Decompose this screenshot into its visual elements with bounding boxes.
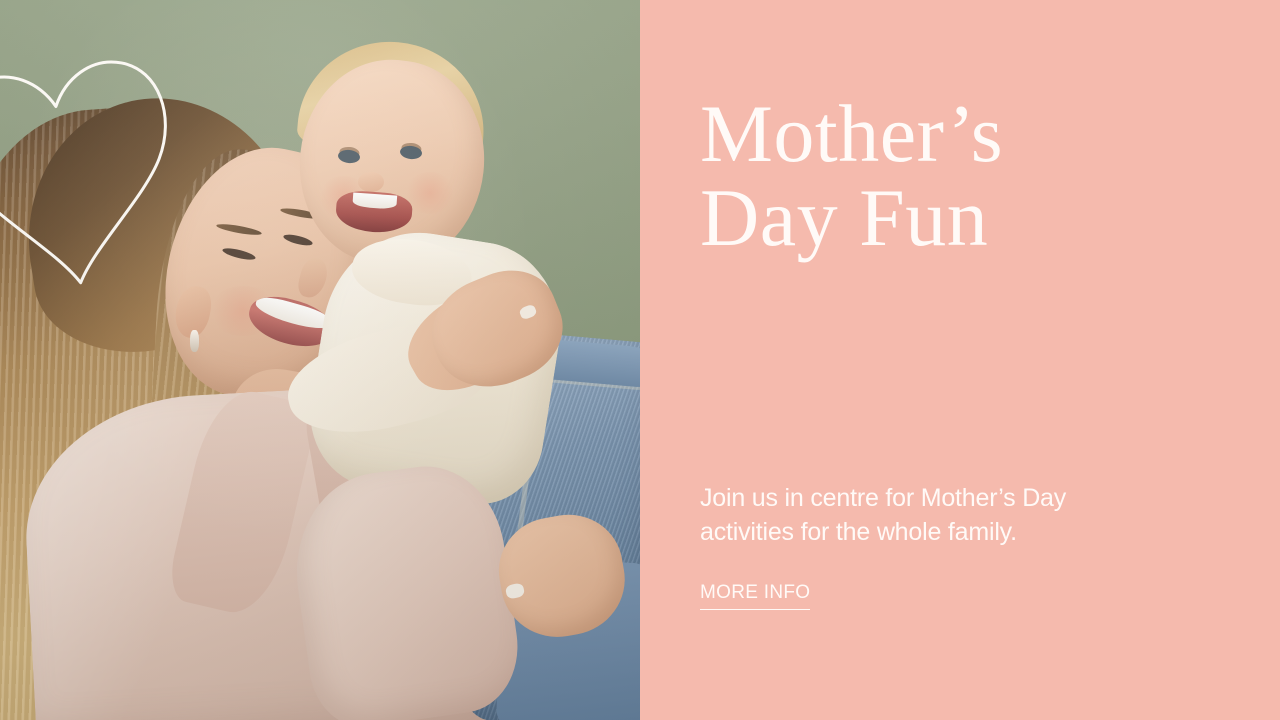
baby-nose <box>358 172 384 192</box>
promo-content-panel: Mother’s Day Fun Join us in centre for M… <box>640 0 1280 720</box>
mothers-day-promo-banner: Mother’s Day Fun Join us in centre for M… <box>0 0 1280 720</box>
photo-subjects <box>0 0 640 720</box>
page-title: Mother’s Day Fun <box>700 92 1003 261</box>
promo-description: Join us in centre for Mother’s Day activ… <box>700 482 1130 549</box>
more-info-link[interactable]: MORE INFO <box>700 582 810 610</box>
hero-photo <box>0 0 640 720</box>
baby-teeth <box>352 193 397 210</box>
mother-earring <box>190 330 199 352</box>
